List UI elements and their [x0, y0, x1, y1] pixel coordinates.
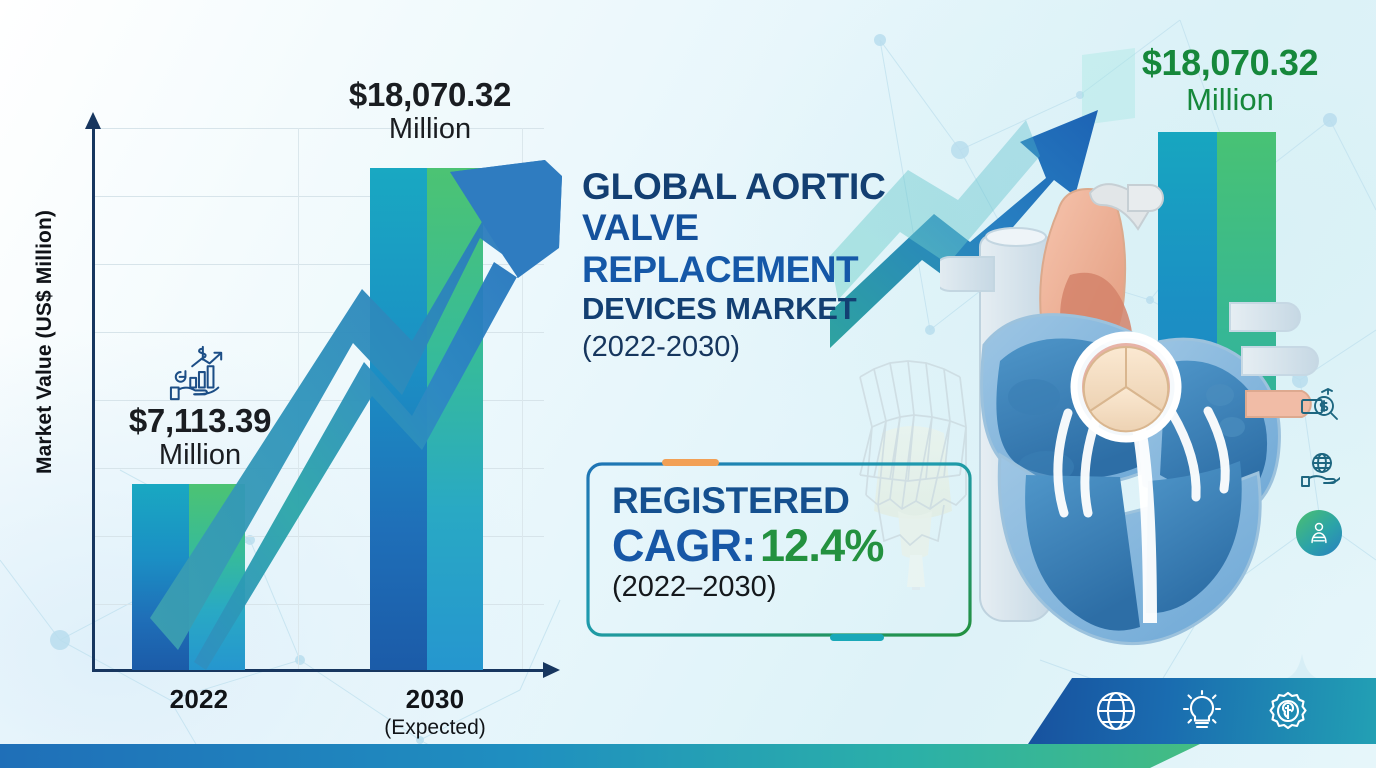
- page-title: GLOBAL AORTIC VALVE REPLACEMENT DEVICES …: [582, 166, 982, 365]
- y-axis-arrow-icon: [85, 112, 101, 129]
- x-axis-tick-2030: 2030 (Expected): [330, 684, 540, 740]
- title-line-4: DEVICES MARKET: [582, 290, 982, 327]
- cagr-prefix: CAGR:: [612, 520, 755, 571]
- cagr-period: (2022–2030): [612, 573, 958, 602]
- globe-icon[interactable]: [1094, 689, 1138, 733]
- hero-value-amount: $18,070.32: [1100, 45, 1360, 82]
- cagr-card: REGISTERED CAGR: 12.4% (2022–2030): [586, 462, 972, 637]
- title-line-3: REPLACEMENT: [582, 249, 982, 290]
- value-amount: $18,070.32: [300, 78, 560, 112]
- globe-in-hand-icon[interactable]: [1300, 450, 1340, 490]
- heart-anatomy-illustration: [940, 175, 1320, 665]
- cagr-accent-orange: [662, 459, 719, 466]
- analyst-badge-icon[interactable]: [1296, 510, 1342, 556]
- cagr-label: REGISTERED: [612, 482, 958, 519]
- value-unit: Million: [300, 115, 560, 145]
- tick-year: 2030: [330, 684, 540, 715]
- footer-bar: [1028, 678, 1376, 744]
- hero-value-label: $18,070.32 Million: [1100, 45, 1360, 115]
- bottom-accent-strip: [0, 744, 1376, 768]
- title-line-2: VALVE: [582, 207, 982, 248]
- title-line-1: GLOBAL AORTIC: [582, 166, 982, 207]
- hero-value-unit: Million: [1100, 84, 1360, 116]
- tick-year: 2022: [114, 684, 284, 715]
- lightbulb-icon[interactable]: [1180, 689, 1224, 733]
- cagr-value: 12.4%: [760, 520, 884, 571]
- infographic-canvas: Market Value (US$ Million): [0, 0, 1376, 768]
- cagr-value-row: CAGR: 12.4%: [612, 523, 958, 568]
- right-icon-rail: [1294, 388, 1356, 574]
- tick-sublabel: (Expected): [330, 716, 540, 740]
- cagr-accent-teal: [830, 634, 884, 641]
- money-search-icon[interactable]: [1300, 388, 1340, 428]
- value-label-2030: $18,070.32 Million: [300, 78, 560, 144]
- y-axis-label: Market Value (US$ Million): [33, 177, 57, 507]
- gear-brain-icon[interactable]: [1266, 689, 1310, 733]
- x-axis-tick-2022: 2022: [114, 684, 284, 715]
- growth-arrow-illustration: [150, 150, 580, 670]
